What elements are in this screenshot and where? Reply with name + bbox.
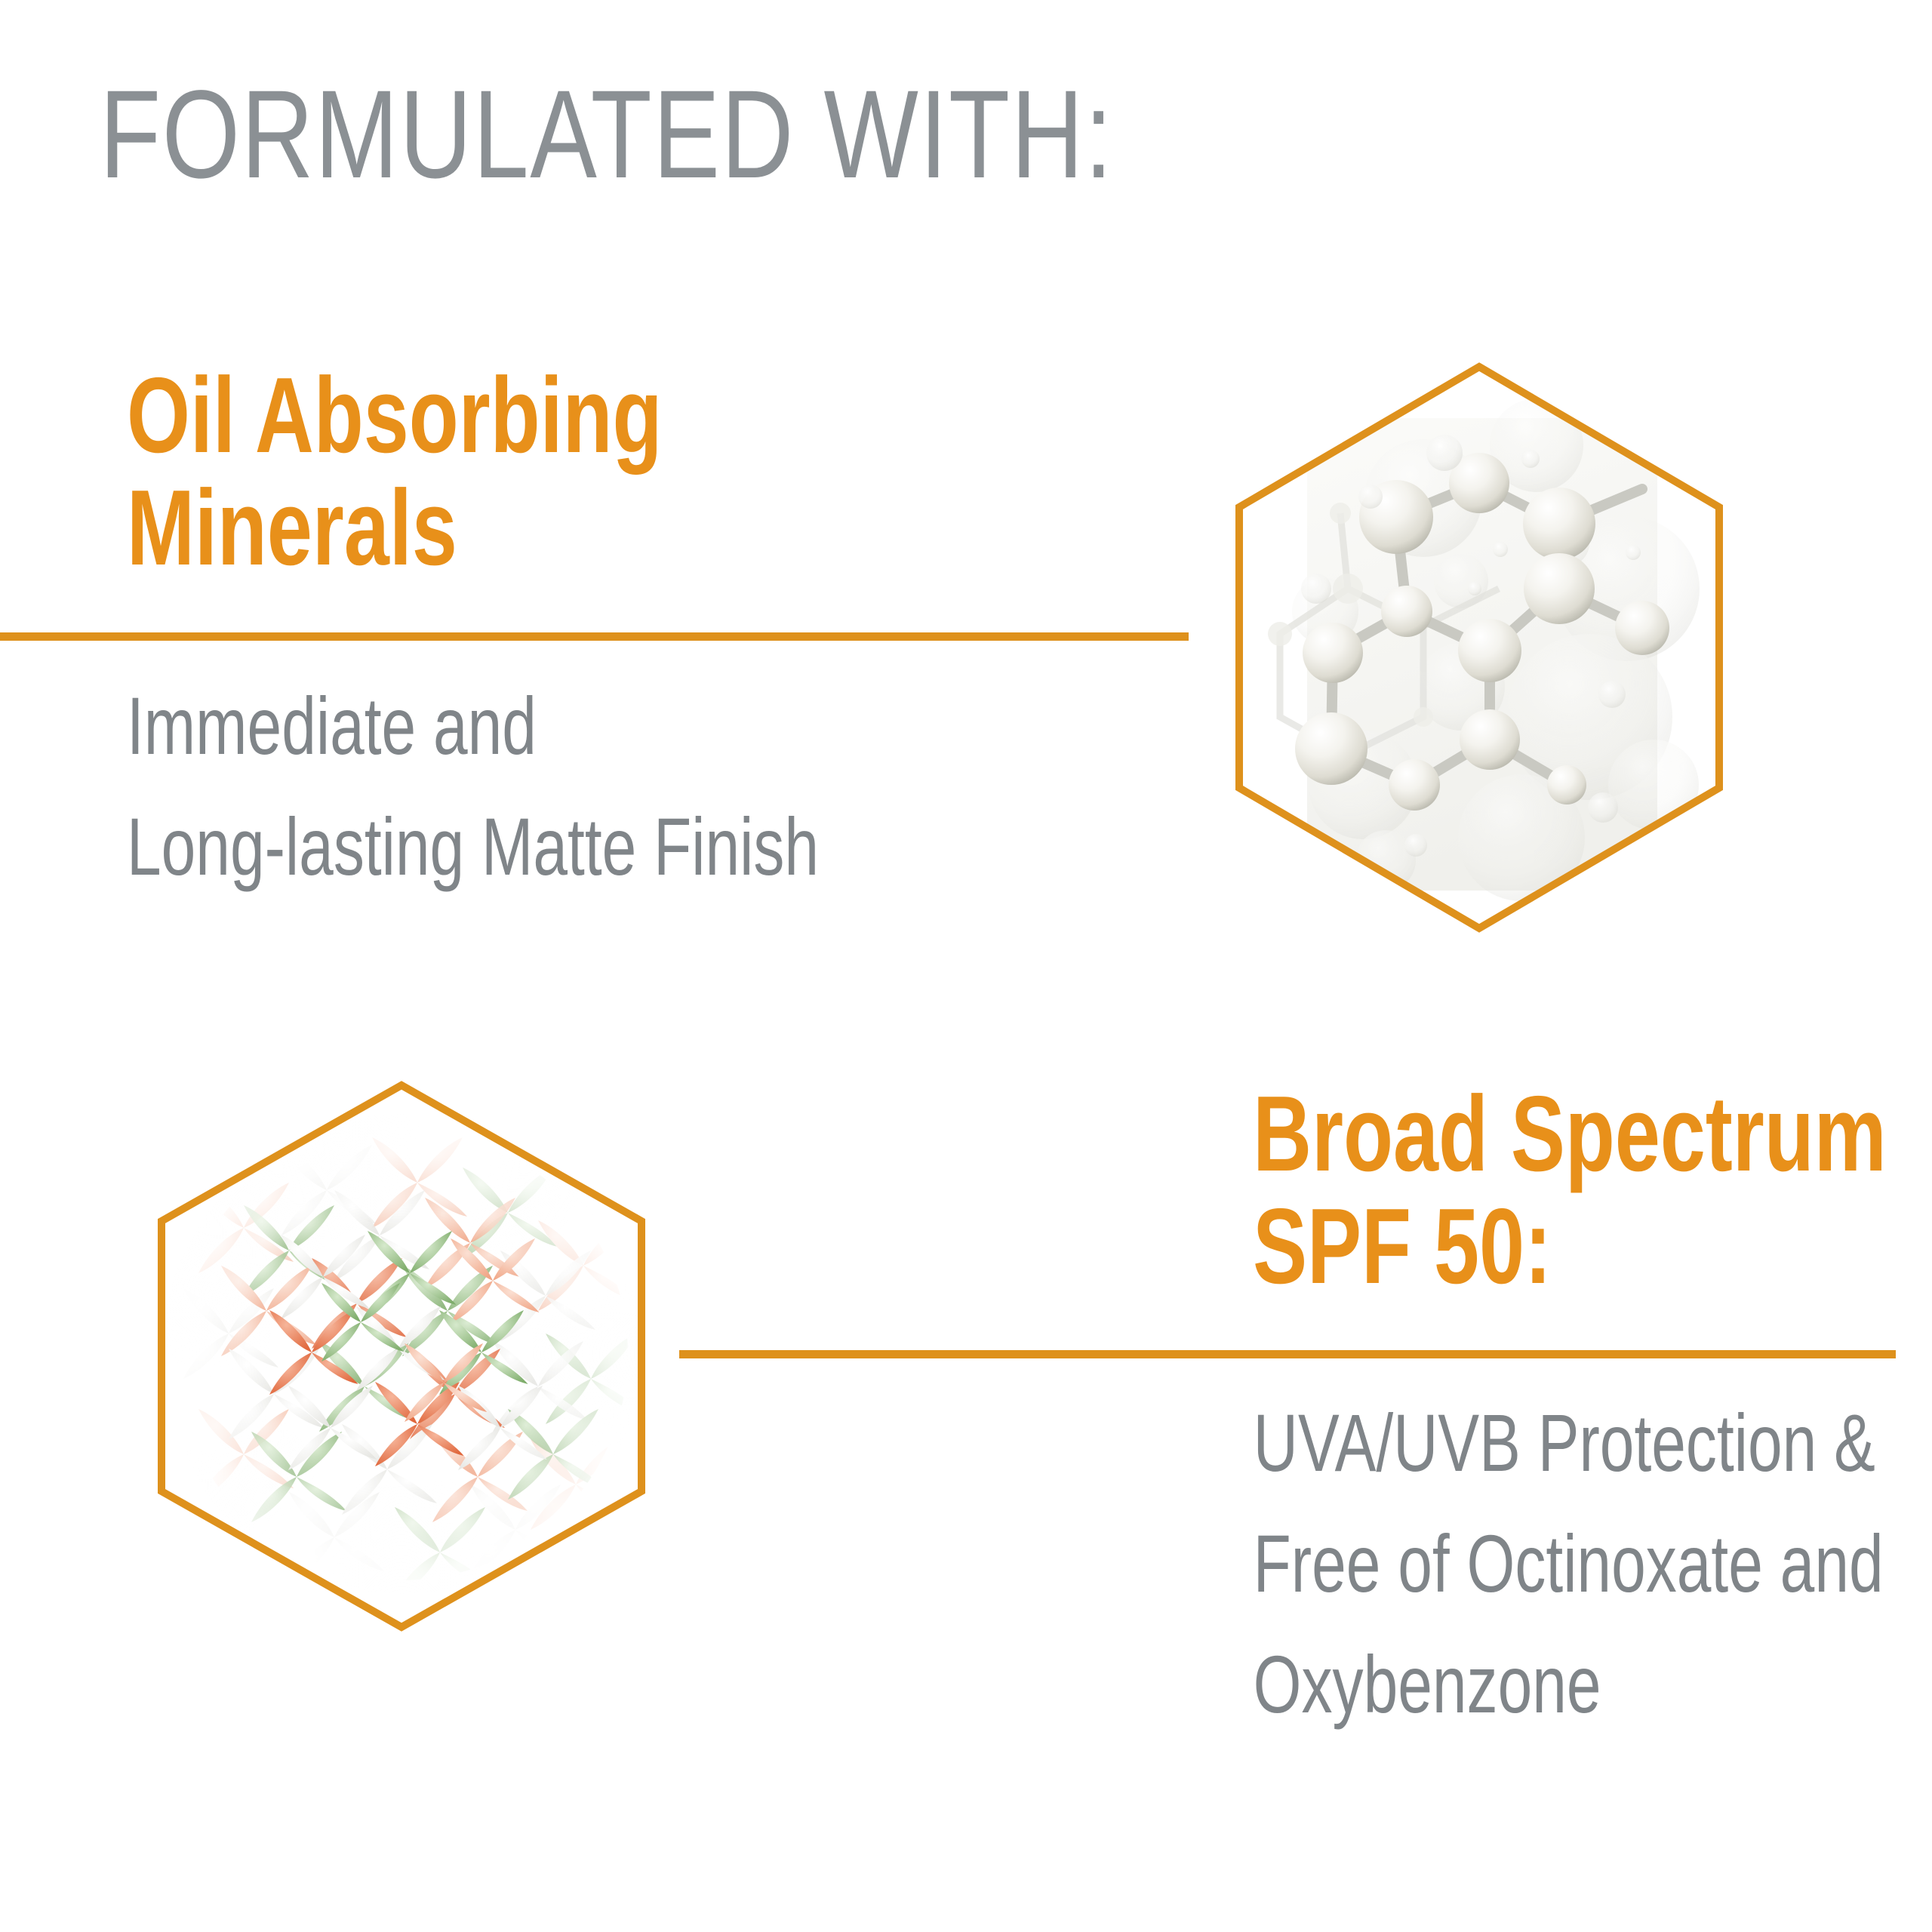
body-line: Immediate and: [127, 666, 819, 786]
page-title: FORMULATED WITH:: [100, 72, 1114, 198]
feature-broad-spectrum-body: UVA/UVB Protection & Free of Octinoxate …: [1054, 1383, 1884, 1744]
feature-oil-absorbing-minerals-heading: Oil Absorbing Minerals: [127, 359, 831, 584]
heading-line: Minerals: [127, 472, 662, 584]
infographic-canvas: FORMULATED WITH: Oil Absorbing Minerals …: [0, 0, 1932, 1932]
body-line: Free of Octinoxate and: [1254, 1503, 1884, 1624]
feature-broad-spectrum-heading: Broad Spectrum SPF 50:: [1053, 1078, 1887, 1303]
heading-line: SPF 50:: [1253, 1190, 1887, 1303]
divider-top: [0, 632, 1189, 641]
body-line: UVA/UVB Protection &: [1254, 1383, 1884, 1503]
divider-bottom: [679, 1350, 1896, 1358]
feature-oil-absorbing-minerals-body: Immediate and Long-lasting Matte Finish: [127, 666, 1038, 907]
body-line: Long-lasting Matte Finish: [127, 786, 819, 907]
heading-line: Oil Absorbing: [127, 359, 662, 472]
mineral-crystal-hexagon-icon: [157, 1081, 646, 1632]
molecule-hexagon-icon: [1235, 362, 1724, 933]
heading-line: Broad Spectrum: [1253, 1078, 1887, 1190]
body-line: Oxybenzone: [1254, 1624, 1884, 1745]
